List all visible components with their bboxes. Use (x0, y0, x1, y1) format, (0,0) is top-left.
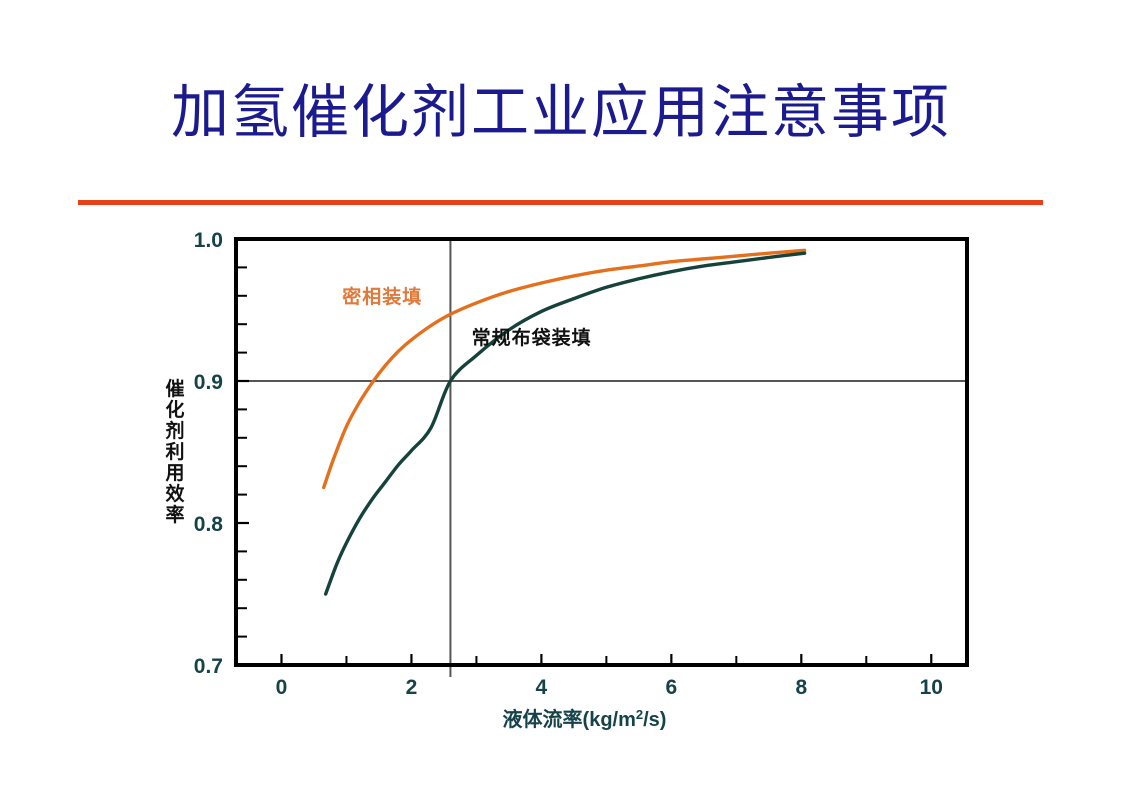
y-axis-title-char: 率 (165, 503, 184, 526)
y-tick-label: 0.7 (194, 655, 223, 678)
x-tick-label: 0 (276, 676, 288, 699)
y-axis-title-char: 效 (165, 482, 184, 505)
x-tick-label: 6 (666, 676, 678, 699)
efficiency-vs-flowrate-chart: 02468100.70.80.91.0液体流率(kg/m2/s)催化剂利用效率密… (0, 0, 1122, 793)
y-tick-label: 0.9 (194, 371, 223, 394)
x-tick-label: 10 (920, 676, 943, 699)
series-label-1: 密相装填 (342, 285, 422, 308)
y-axis-title-char: 化 (165, 398, 184, 421)
x-tick-label: 4 (536, 676, 548, 699)
slide-canvas: 加氢催化剂工业应用注意事项 02468100.70.80.91.0液体流率(kg… (0, 0, 1122, 793)
y-axis-title-char: 用 (165, 463, 184, 484)
x-tick-label: 8 (795, 676, 807, 699)
y-axis-title-char: 利 (165, 441, 184, 463)
y-tick-label: 1.0 (194, 229, 223, 252)
x-axis-title: 液体流率(kg/m2/s) (503, 707, 667, 732)
y-tick-label: 0.8 (194, 513, 224, 536)
x-tick-label: 2 (406, 676, 418, 699)
y-axis-title-char: 剂 (165, 419, 184, 442)
series-label-2: 常规布袋装填 (472, 326, 592, 349)
y-axis-title-char: 催 (165, 377, 184, 400)
